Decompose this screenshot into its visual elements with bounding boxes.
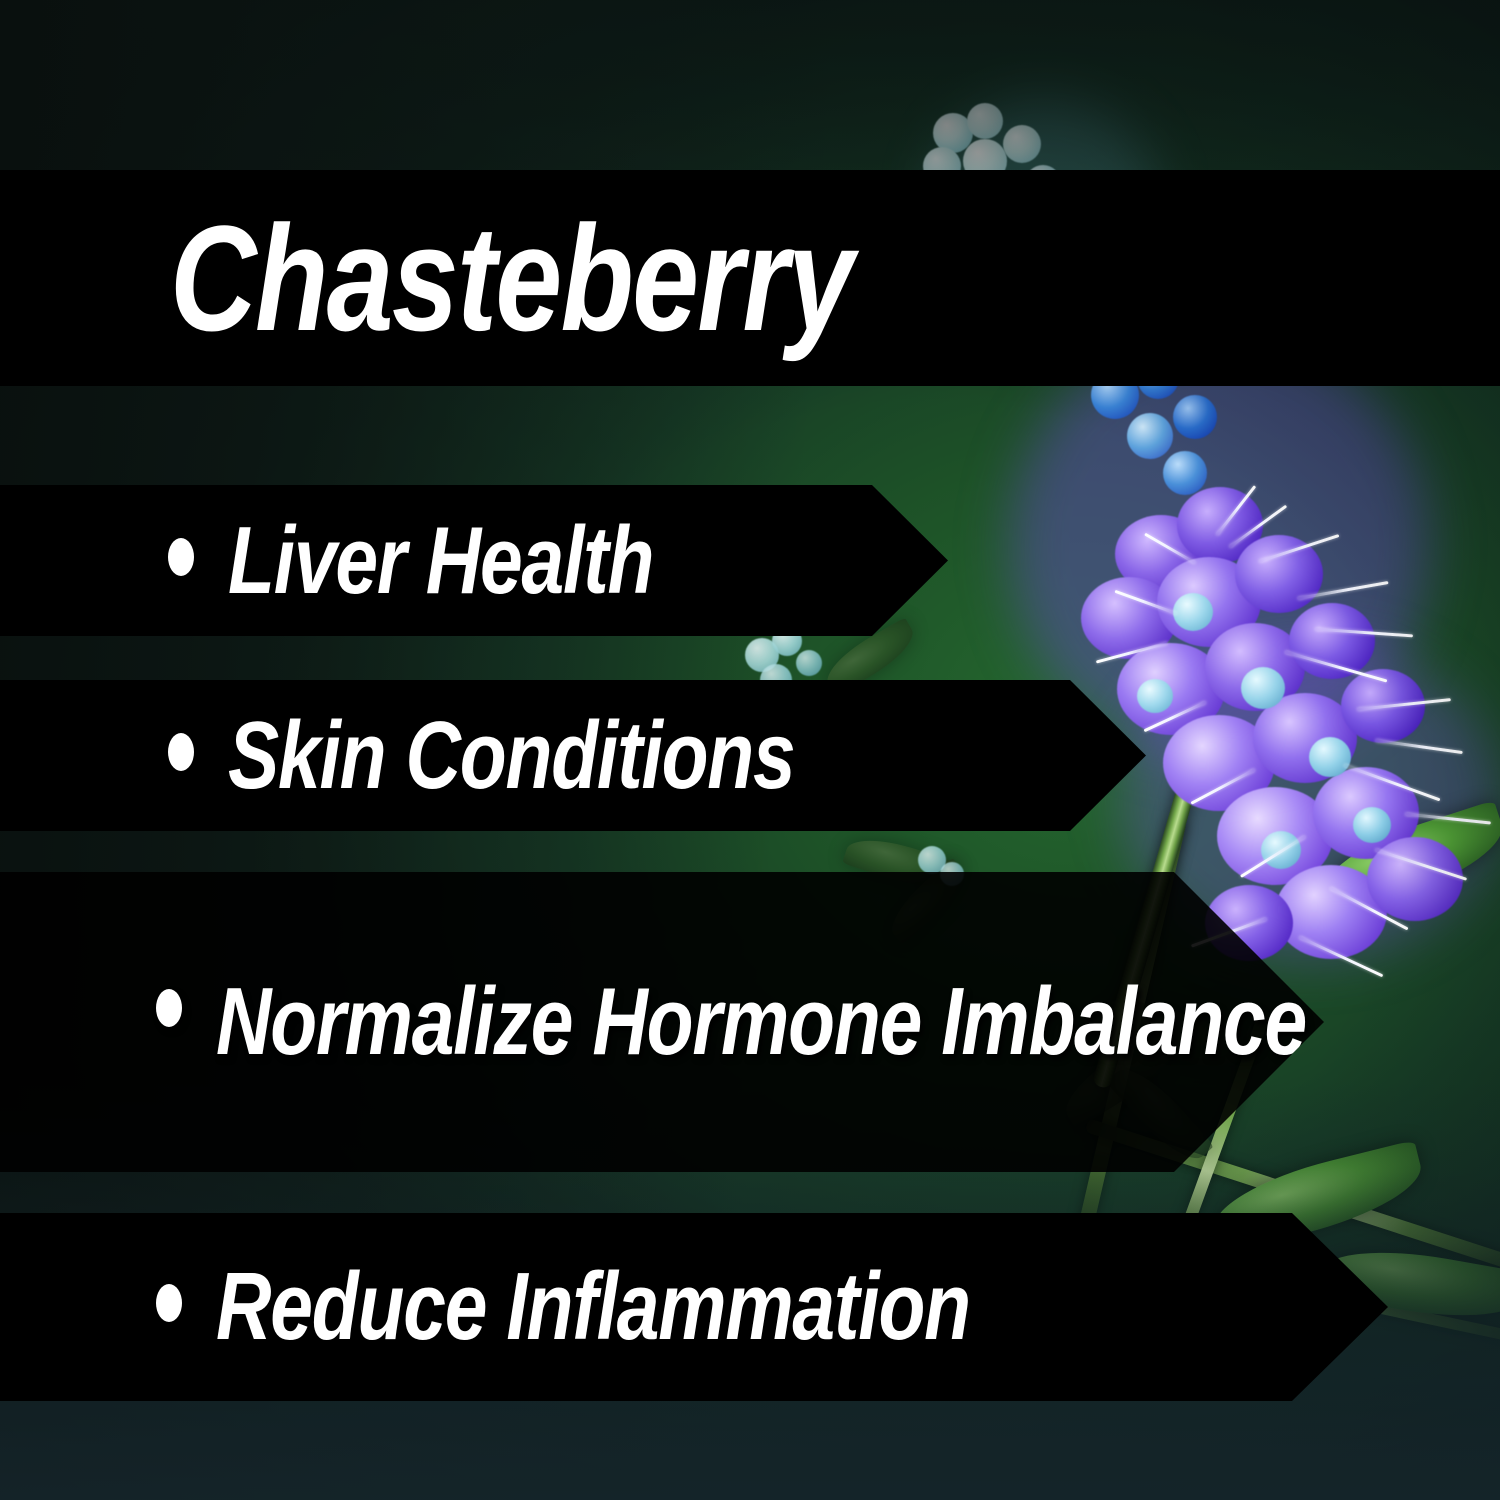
benefit-banner-liver-health[interactable]: Liver Health [0,485,948,636]
bullet-dot-icon [156,1284,182,1322]
benefit-label-0: Liver Health [228,512,653,610]
bullet-dot-icon [168,733,194,771]
page-title: Chasteberry [170,206,853,350]
bullet-dot-icon [168,538,194,576]
bullet-row: Liver Health [168,512,760,610]
benefit-label-2: Normalize Hormone Imbalance [216,957,1400,1088]
bullet-row: Skin Conditions [168,707,936,805]
benefit-banner-reduce-inflammation[interactable]: Reduce Inflammation [0,1213,1388,1401]
poster-root: Chasteberry Liver Health Skin Conditions… [0,0,1500,1500]
bullet-row: Reduce Inflammation [156,1258,1158,1356]
title-banner: Chasteberry [0,170,1500,386]
benefit-label-1: Skin Conditions [228,707,795,805]
bullet-dot-icon [156,989,182,1027]
benefit-label-3: Reduce Inflammation [216,1258,970,1356]
benefit-banner-normalize-hormone-imbalance[interactable]: Normalize Hormone Imbalance [0,872,1324,1172]
benefit-banner-skin-conditions[interactable]: Skin Conditions [0,680,1146,831]
